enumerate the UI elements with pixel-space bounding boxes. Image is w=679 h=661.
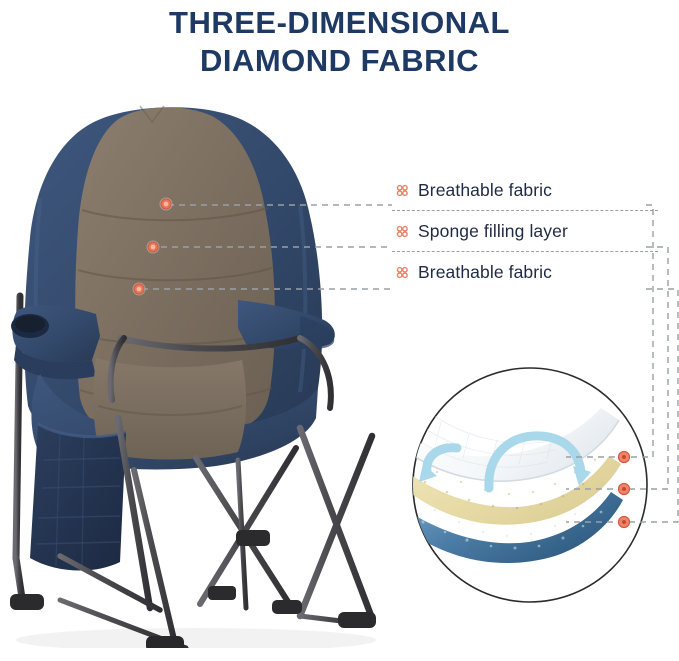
chair-side-pocket: [30, 424, 126, 571]
title-line-1: THREE-DIMENSIONAL: [0, 4, 679, 42]
callout-label-list: Breathable fabric Sponge filling layer: [392, 170, 652, 293]
callout-label-2: Sponge filling layer: [418, 221, 568, 242]
callout-label-3: Breathable fabric: [418, 262, 552, 283]
clover-four-petal-icon: [392, 182, 409, 199]
clover-four-petal-icon: [392, 223, 409, 240]
callout-row-sponge-filling-layer[interactable]: Sponge filling layer: [392, 211, 652, 252]
callout-label-1: Breathable fabric: [418, 180, 552, 201]
chair-frame-hubs: [208, 530, 270, 600]
fabric-layer-cutaway-inset: [405, 360, 655, 610]
clover-four-petal-icon: [392, 264, 409, 281]
page-title: THREE-DIMENSIONAL DIAMOND FABRIC: [0, 4, 679, 80]
title-line-2: DIAMOND FABRIC: [0, 42, 679, 80]
inset-circle-border: [413, 368, 647, 602]
chair-armrest-left: [11, 305, 100, 379]
callout-row-breathable-fabric-top[interactable]: Breathable fabric: [392, 170, 652, 211]
infographic-page: THREE-DIMENSIONAL DIAMOND FABRIC: [0, 0, 679, 661]
callout-row-breathable-fabric-bottom[interactable]: Breathable fabric: [392, 252, 652, 293]
product-image-folding-chair: [0, 88, 420, 648]
